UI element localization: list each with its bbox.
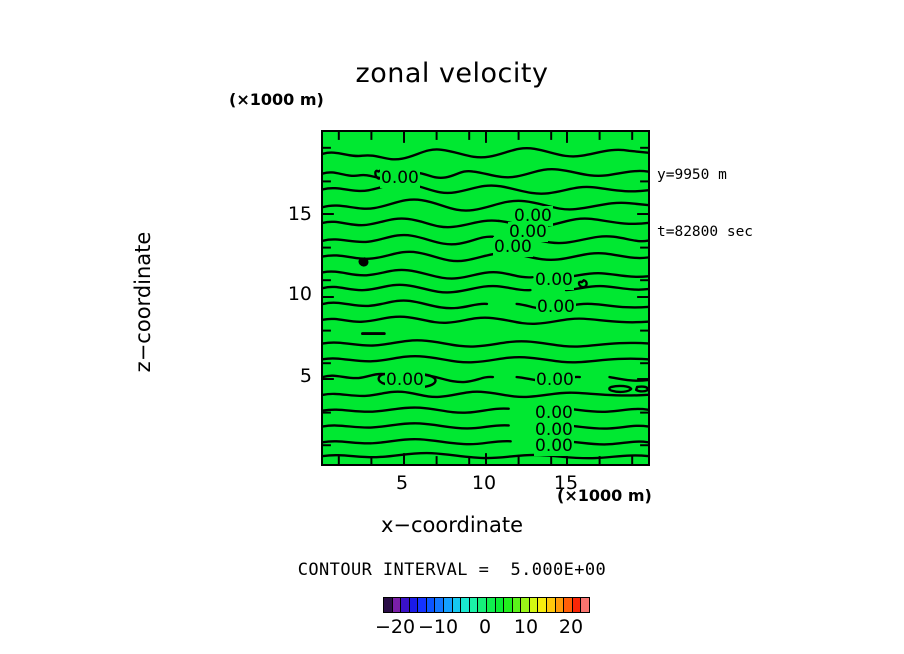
colorbar-swatch-22	[573, 598, 582, 612]
colorbar-swatch-8	[453, 598, 462, 612]
contour-label: 0.00	[534, 436, 574, 456]
colorbar-swatch-16	[521, 598, 530, 612]
colorbar-swatch-6	[435, 598, 444, 612]
colorbar-swatch-19	[547, 598, 556, 612]
colorbar-swatch-0	[384, 598, 393, 612]
contour-label: 0.00	[493, 237, 533, 257]
colorbar-swatch-12	[487, 598, 496, 612]
colorbar-swatch-9	[461, 598, 470, 612]
colorbar-swatch-10	[470, 598, 479, 612]
page-title: zonal velocity	[0, 58, 904, 89]
colorbar-swatch-17	[530, 598, 539, 612]
colorbar-swatch-15	[513, 598, 522, 612]
contour-label: 0.00	[385, 370, 425, 390]
x-tick-label-10: 10	[464, 472, 504, 494]
colorbar-swatch-23	[581, 598, 589, 612]
y-tick-label-10: 10	[272, 283, 312, 305]
colorbar-swatch-3	[410, 598, 419, 612]
contour-plot-area[interactable]: 0.00 0.00 0.00 0.00 0.00 0.00 0.00 0.00 …	[321, 130, 650, 466]
y-axis-title: z−coordinate	[131, 137, 155, 467]
colorbar-swatch-11	[478, 598, 487, 612]
contour-lines	[323, 132, 648, 464]
colorbar-swatch-5	[427, 598, 436, 612]
contour-label: 0.00	[535, 370, 575, 390]
colorbar-swatch-14	[504, 598, 513, 612]
colorbar-tick-20: 20	[541, 616, 601, 638]
annotation-time: t=82800 sec	[657, 223, 753, 242]
colorbar-swatch-7	[444, 598, 453, 612]
x-axis-title: x−coordinate	[0, 513, 904, 537]
colorbar-swatch-1	[393, 598, 402, 612]
colorbar-swatch-21	[564, 598, 573, 612]
contour-interval-label: CONTOUR INTERVAL = 5.000E+00	[0, 560, 904, 580]
colorbar[interactable]	[383, 597, 590, 613]
colorbar-tick-labels: −20 −10 0 10 20	[383, 616, 590, 640]
colorbar-swatch-4	[418, 598, 427, 612]
colorbar-swatch-18	[538, 598, 547, 612]
x-tick-label-15: 15	[546, 472, 586, 494]
colorbar-swatch-20	[556, 598, 565, 612]
contour-label: 0.00	[536, 297, 576, 317]
y-tick-label-5: 5	[272, 365, 312, 387]
colorbar-swatch-2	[401, 598, 410, 612]
contour-label: 0.00	[534, 270, 574, 290]
annotation-block: y=9950 m t=82800 sec	[657, 128, 753, 261]
x-tick-label-5: 5	[382, 472, 422, 494]
colorbar-swatch-13	[496, 598, 505, 612]
contour-label: 0.00	[380, 168, 420, 188]
y-axis-units-label: (×1000 m)	[229, 90, 324, 109]
y-tick-label-15: 15	[272, 203, 312, 225]
annotation-slice-y: y=9950 m	[657, 166, 753, 185]
